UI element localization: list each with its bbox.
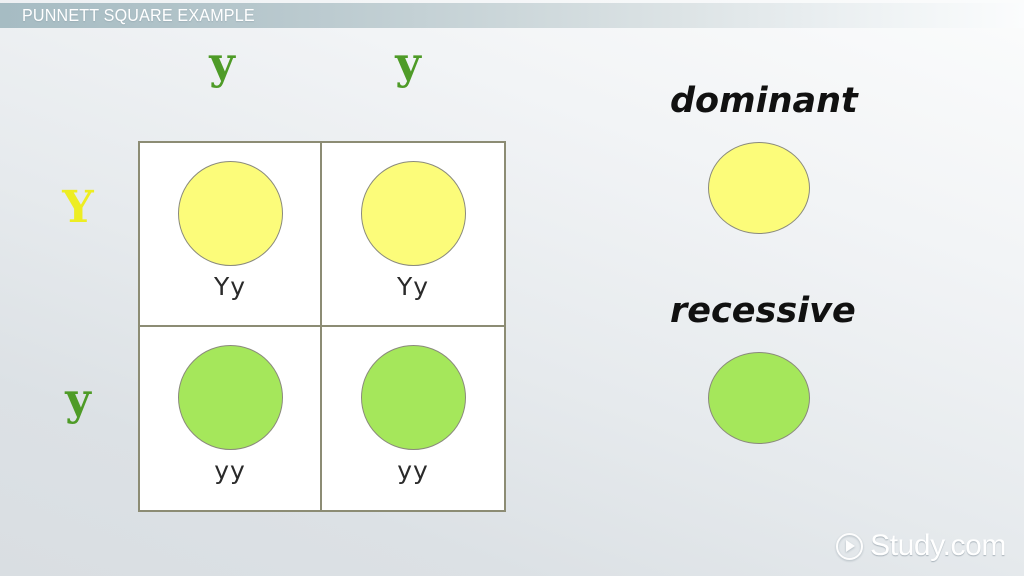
- allele-header-left-1: Y: [48, 186, 108, 230]
- punnett-cell: Yy: [322, 143, 504, 327]
- legend-label-dominant: dominant: [660, 80, 960, 122]
- legend-pea-circle-green: [708, 352, 810, 444]
- genotype-label: yy: [397, 456, 429, 486]
- punnett-cell: yy: [322, 327, 504, 511]
- genotype-label: Yy: [214, 272, 246, 302]
- punnett-square-diagram: PUNNETT SQUARE EXAMPLE y y Y y Yy Yy yy …: [0, 0, 1024, 576]
- punnett-cell: yy: [140, 327, 322, 511]
- title-bar: PUNNETT SQUARE EXAMPLE: [0, 3, 1024, 28]
- watermark: Study.com: [836, 530, 1006, 562]
- pea-circle-green: [178, 345, 283, 450]
- punnett-cell: Yy: [140, 143, 322, 327]
- pea-circle-yellow: [361, 161, 466, 266]
- allele-header-left-2: y: [48, 378, 108, 422]
- legend-item-recessive: recessive: [660, 290, 960, 444]
- legend-item-dominant: dominant: [660, 80, 960, 234]
- genotype-label: yy: [214, 456, 246, 486]
- play-circle-icon: [836, 533, 863, 560]
- allele-header-top-2: y: [378, 42, 438, 86]
- punnett-grid: Yy Yy yy yy: [138, 141, 506, 512]
- watermark-text: Study.com: [870, 530, 1006, 562]
- allele-header-top-1: y: [192, 42, 252, 86]
- pea-circle-green: [361, 345, 466, 450]
- genotype-label: Yy: [397, 272, 429, 302]
- pea-circle-yellow: [178, 161, 283, 266]
- legend-label-recessive: recessive: [660, 290, 960, 332]
- legend-pea-circle-yellow: [708, 142, 810, 234]
- page-title: PUNNETT SQUARE EXAMPLE: [22, 4, 255, 27]
